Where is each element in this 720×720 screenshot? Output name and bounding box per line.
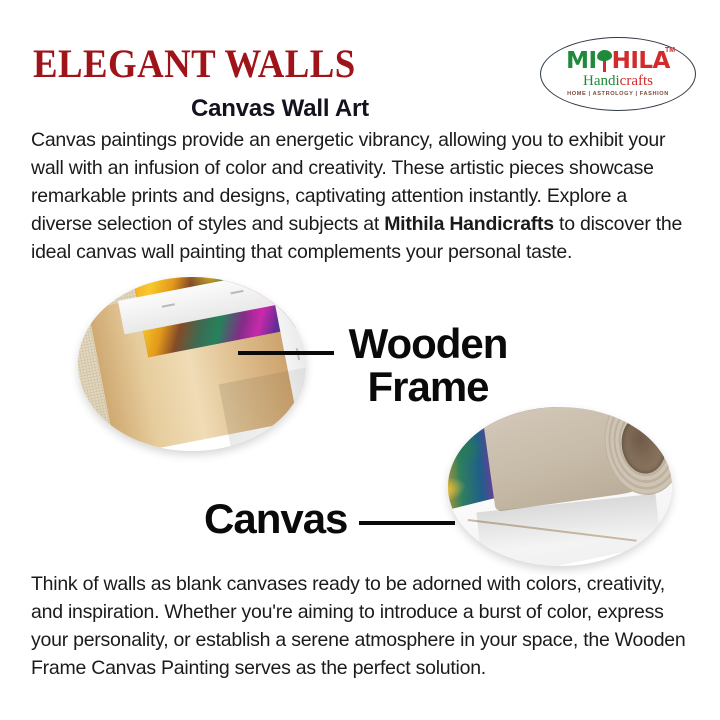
closing-paragraph: Think of walls as blank canvases ready t… bbox=[31, 570, 695, 682]
callout-canvas: Canvas bbox=[204, 498, 347, 541]
logo-wordmark-part-2: HILA bbox=[612, 48, 670, 74]
brand-mention: Mithila Handicrafts bbox=[384, 213, 554, 235]
logo-tagline: HOME | ASTROLOGY | FASHION bbox=[541, 91, 695, 97]
leaf-icon bbox=[597, 50, 612, 72]
page-title: ELEGANT WALLS bbox=[33, 44, 356, 84]
intro-paragraph: Canvas paintings provide an energetic vi… bbox=[31, 126, 693, 266]
logo-subname-part-1: Handi bbox=[583, 73, 620, 89]
trademark-symbol: TM bbox=[665, 47, 675, 54]
rolled-canvas-artwork bbox=[448, 407, 672, 566]
page-subtitle: Canvas Wall Art bbox=[0, 95, 560, 123]
callout-wooden-frame: Wooden Frame bbox=[333, 323, 523, 409]
logo-subname-part-2: crafts bbox=[620, 73, 653, 89]
rolled-canvas-photo bbox=[448, 407, 672, 566]
leader-line-wooden-frame bbox=[238, 351, 334, 355]
leader-line-canvas bbox=[359, 521, 455, 525]
callout-wooden-frame-line2: Frame bbox=[333, 366, 523, 409]
wooden-frame-photo bbox=[78, 277, 306, 451]
logo-subname: Handicrafts bbox=[541, 74, 695, 89]
mithila-handicrafts-logo: MIHILA TM Handicrafts HOME | ASTROLOGY |… bbox=[540, 37, 696, 111]
callout-wooden-frame-line1: Wooden bbox=[349, 320, 508, 367]
poster-root: ELEGANT WALLS Canvas Wall Art MIHILA TM … bbox=[0, 0, 720, 720]
logo-wordmark-part-1: MI bbox=[566, 48, 596, 74]
wooden-frame-artwork bbox=[78, 277, 306, 451]
